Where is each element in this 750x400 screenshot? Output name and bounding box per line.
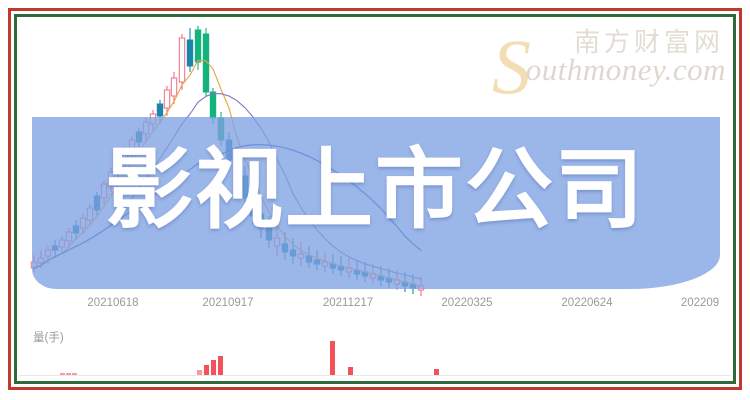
volume-bar: [211, 360, 216, 375]
volume-bar: [60, 373, 65, 375]
candlestick-chart: [19, 19, 731, 379]
volume-baseline: [19, 375, 731, 376]
volume-bar: [348, 367, 353, 375]
volume-axis-label: 量(手): [33, 329, 64, 345]
volume-bar: [197, 370, 202, 375]
volume-bar: [218, 356, 223, 375]
volume-pane: 量(手): [19, 327, 731, 379]
chart-canvas: [19, 19, 731, 379]
stock-chart-banner: 影视上市公司 202106182021091720211217202203252…: [0, 0, 750, 400]
volume-bar: [434, 369, 439, 375]
volume-bar: [66, 373, 71, 375]
volume-bar: [72, 373, 77, 375]
volume-bar: [330, 341, 335, 375]
volume-bar: [204, 365, 209, 375]
